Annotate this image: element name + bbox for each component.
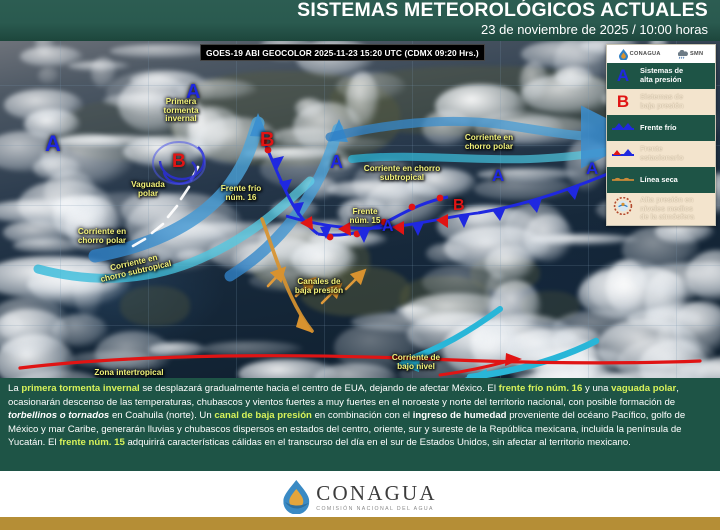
mid-level-high-icon: [611, 197, 635, 220]
forecast-segment-14: adquirirá características cálidas en el …: [125, 437, 631, 448]
page-header: SISTEMAS METEOROLÓGICOS ACTUALES 23 de n…: [0, 0, 720, 41]
bulletin-date: 23 de noviembre de 2025 / 10:00 horas: [481, 22, 708, 37]
forecast-segment-8: en Coahuila (norte). Un: [109, 410, 214, 421]
page-title: SISTEMAS METEOROLÓGICOS ACTUALES: [297, 0, 708, 22]
forecast-segment-3: frente frío núm. 16: [499, 383, 583, 394]
letter-a-icon: A: [611, 66, 635, 86]
forecast-segment-9: canal de baja presión: [214, 410, 312, 421]
legend-item-alta-presion[interactable]: A Sistemas de alta presión: [607, 63, 715, 89]
legend-panel: CONAGUA SMN A Sistemas de alta presión B…: [606, 44, 716, 226]
map-label-corriente-chorro-subtropical-este: Corriente en chorro subtropical: [352, 165, 452, 182]
high-pressure-symbol-pacific: A: [45, 133, 61, 155]
forecast-segment-13: frente núm. 15: [59, 437, 125, 448]
map-label-corriente-bajo-nivel: Corriente de bajo nivel: [382, 354, 450, 371]
water-drop-icon: [283, 480, 309, 514]
smn-logo-icon: SMN: [678, 50, 703, 59]
forecast-segment-7: torbellinos o tornados: [8, 410, 109, 421]
stationary-front-icon: [611, 145, 635, 163]
map-label-vaguada-polar: Vaguada polar: [118, 181, 178, 198]
cold-front-icon: [611, 119, 635, 137]
footer-gold-bar: [0, 517, 720, 530]
conagua-footer-logo: CONAGUA COMISIÓN NACIONAL DEL AGUA: [283, 480, 436, 514]
footer-org-subtitle: COMISIÓN NACIONAL DEL AGUA: [316, 506, 436, 512]
page-footer: CONAGUA COMISIÓN NACIONAL DEL AGUA: [0, 471, 720, 530]
map-label-corriente-chorro-polar-oeste: Corriente en chorro polar: [66, 228, 138, 245]
legend-item-alta-niveles-medios[interactable]: Alta presión en niveles medios de la atm…: [607, 193, 715, 225]
forecast-segment-5: vaguada polar: [611, 383, 676, 394]
legend-org-secondary: SMN: [690, 51, 703, 57]
low-pressure-symbol-plains: B: [260, 130, 274, 150]
forecast-segment-2: se desplazará gradualmente hacia el cent…: [140, 383, 499, 394]
low-pressure-symbol-storm: B: [172, 152, 186, 171]
weather-bulletin-page: SISTEMAS METEOROLÓGICOS ACTUALES 23 de n…: [0, 0, 720, 530]
forecast-segment-0: La: [8, 383, 21, 394]
forecast-segment-11: ingreso de humedad: [413, 410, 507, 421]
legend-item-label: Frente estacionario: [640, 145, 684, 162]
legend-item-label: Frente frío: [640, 124, 677, 133]
legend-org-primary: CONAGUA: [630, 51, 661, 57]
letter-b-icon: B: [611, 92, 635, 112]
legend-item-label: Alta presión en niveles medios de la atm…: [640, 196, 694, 222]
legend-item-label: Línea seca: [640, 176, 678, 185]
legend-item-frente-frio[interactable]: Frente frío: [607, 115, 715, 141]
legend-item-label: Sistemas de baja presión: [640, 93, 684, 110]
forecast-segment-1: primera tormenta invernal: [21, 383, 139, 394]
conagua-logo-icon: CONAGUA: [619, 49, 661, 60]
satellite-map[interactable]: A A A A A A B B B Primera tormenta inver…: [0, 41, 720, 378]
high-pressure-symbol-central: A: [330, 153, 343, 171]
map-label-primera-tormenta-invernal: Primera tormenta invernal: [150, 98, 212, 124]
low-pressure-symbol-atlantic: B: [453, 198, 465, 214]
forecast-text-panel: La primera tormenta invernal se desplaza…: [0, 378, 720, 471]
map-label-frente-15: Frente núm. 15: [338, 208, 392, 225]
satellite-caption: GOES-19 ABI GEOCOLOR 2025-11-23 15:20 UT…: [200, 44, 485, 61]
map-label-frente-frio-16: Frente frío núm. 16: [208, 185, 274, 202]
high-pressure-symbol-east: A: [492, 167, 504, 184]
legend-item-label: Sistemas de alta presión: [640, 67, 683, 84]
map-label-canales-baja-presion: Canales de baja presión: [286, 278, 352, 295]
map-label-corriente-chorro-polar-este: Corriente en chorro polar: [452, 134, 526, 151]
legend-header: CONAGUA SMN: [607, 45, 715, 63]
footer-org-name: CONAGUA: [316, 483, 436, 504]
high-pressure-symbol-southeast: A: [586, 160, 598, 177]
legend-item-baja-presion[interactable]: B Sistemas de baja presión: [607, 89, 715, 115]
dry-line-icon: [611, 171, 635, 189]
legend-item-frente-estacionario[interactable]: Frente estacionario: [607, 141, 715, 167]
map-label-zona-intertropical: Zona intertropical de convergencia: [80, 369, 178, 378]
forecast-segment-10: en combinación con el: [312, 410, 413, 421]
forecast-paragraph: La primera tormenta invernal se desplaza…: [8, 382, 712, 450]
legend-item-linea-seca[interactable]: Línea seca: [607, 167, 715, 193]
forecast-segment-4: y una: [582, 383, 611, 394]
